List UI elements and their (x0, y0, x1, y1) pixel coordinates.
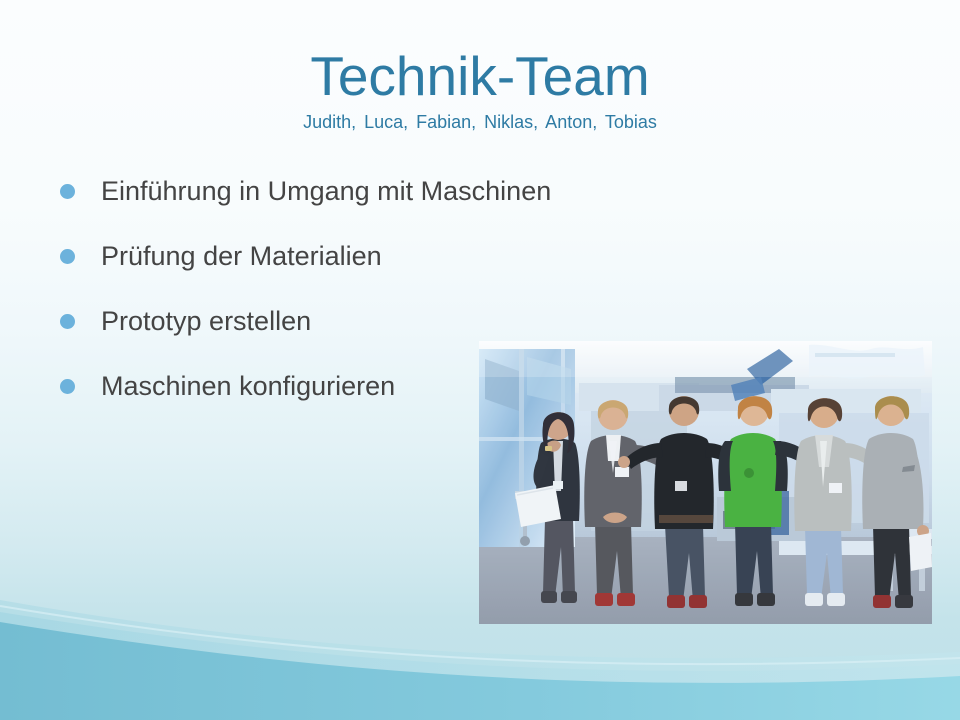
bullet-dot-icon (60, 249, 75, 264)
title-block: Technik-Team Judith, Luca, Fabian, Nikla… (0, 44, 960, 134)
list-item: Einführung in Umgang mit Maschinen (60, 174, 680, 239)
bullet-dot-icon (60, 314, 75, 329)
list-item-label: Prototyp erstellen (101, 304, 311, 338)
list-item-label: Einführung in Umgang mit Maschinen (101, 174, 551, 208)
page-subtitle: Judith, Luca, Fabian, Niklas, Anton, Tob… (0, 110, 960, 134)
page-title: Technik-Team (0, 44, 960, 108)
list-item: Prüfung der Materialien (60, 239, 680, 304)
team-photo-image (479, 341, 932, 624)
bullet-dot-icon (60, 184, 75, 199)
slide-canvas: Technik-Team Judith, Luca, Fabian, Nikla… (0, 0, 960, 720)
list-item-label: Maschinen konfigurieren (101, 369, 395, 403)
list-item-label: Prüfung der Materialien (101, 239, 382, 273)
bullet-dot-icon (60, 379, 75, 394)
team-photo (479, 341, 932, 624)
